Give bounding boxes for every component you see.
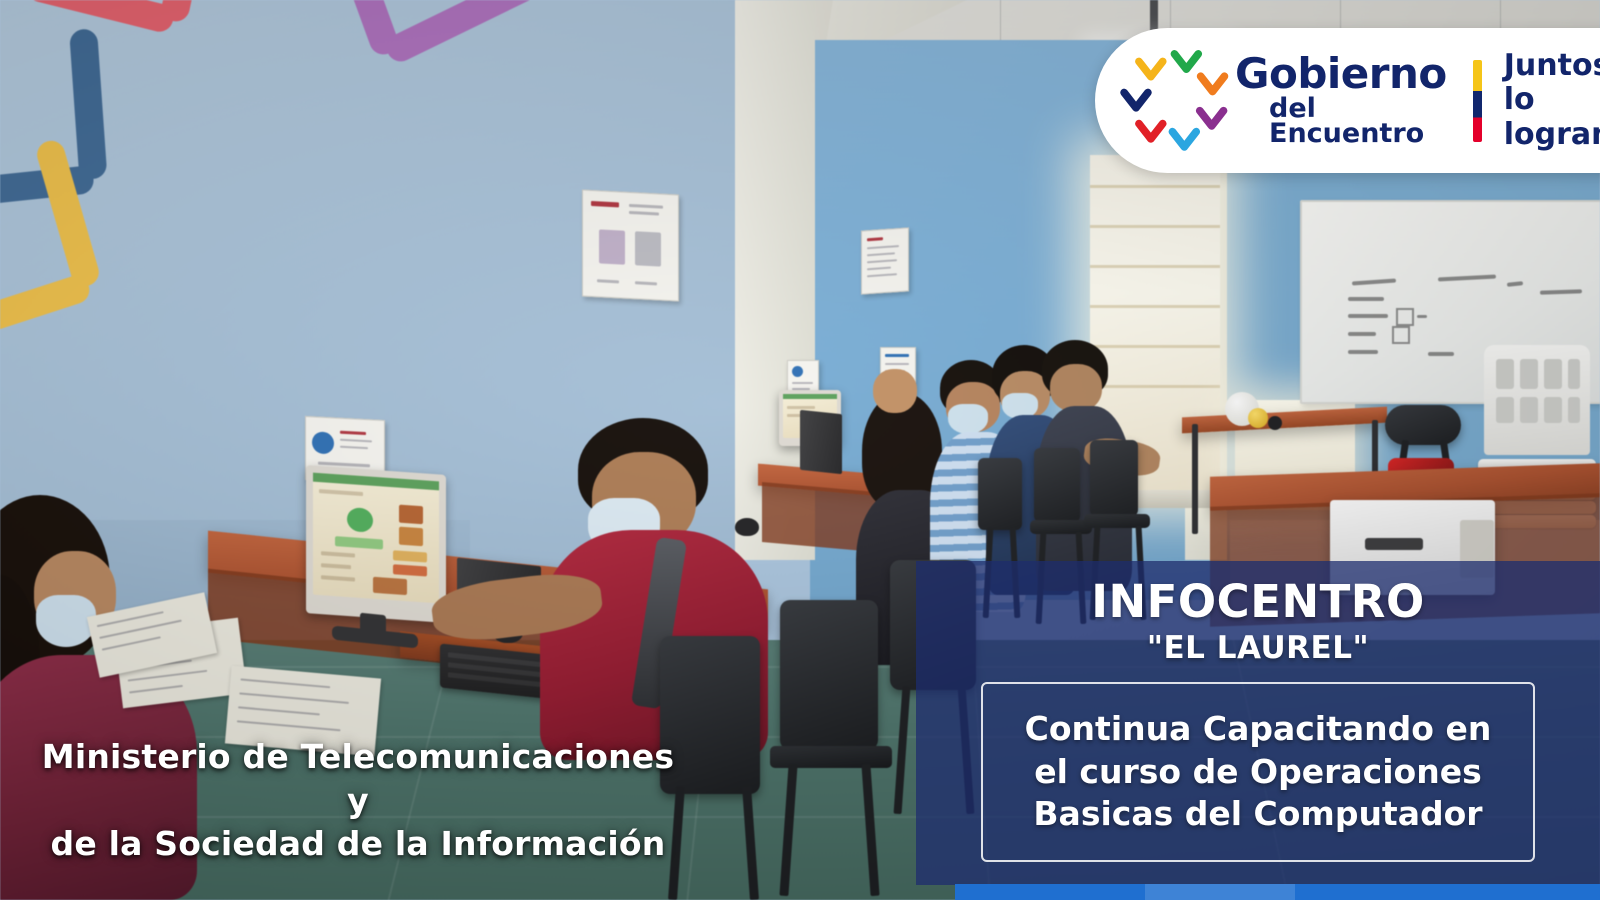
ecuador-flag-divider [1473, 60, 1482, 142]
panel-subtitle: "EL LAUREL" [916, 633, 1600, 664]
gobierno-sun-icon [1121, 46, 1231, 156]
panel-message-line-3: Basicas del Computador [1033, 794, 1482, 833]
mural-chevron-red [105, 0, 184, 14]
monitor-main-screen [313, 473, 439, 604]
face-mask [948, 404, 988, 434]
ministry-line-2: de la Sociedad de la Información [28, 822, 688, 866]
ray-navy-icon [1119, 84, 1153, 118]
ray-red-icon [1134, 115, 1168, 149]
monitor-main [306, 465, 446, 623]
gobierno-wordmark: Gobierno del Encuentro [1235, 54, 1447, 147]
panel-message-box: Continua Capacitando en el curso de Oper… [981, 682, 1535, 862]
chair-back-1 [978, 458, 1022, 530]
logo-tagline: Juntos lo logramos [1504, 49, 1600, 152]
ministry-caption: Ministerio de Telecomunicaciones y de la… [28, 735, 688, 866]
wall-poster-instructions [582, 189, 679, 301]
wall-poster-small [861, 227, 909, 294]
bottom-accent-bar-highlight [1145, 884, 1295, 900]
panel-message: Continua Capacitando en el curso de Oper… [1025, 708, 1492, 837]
panel-title: INFOCENTRO [916, 579, 1600, 624]
plastic-chair-back [1484, 345, 1590, 455]
panel-message-line-2: el curso de Operaciones [1034, 752, 1481, 791]
ministry-line-1: Ministerio de Telecomunicaciones y [28, 735, 688, 822]
chair-foreground-2 [780, 600, 878, 750]
chair-back-3 [1090, 440, 1138, 516]
student-hand-raised [873, 355, 927, 415]
ball-yellow [1248, 408, 1268, 428]
ray-purple-icon [1195, 102, 1229, 136]
printer-slot [1365, 538, 1423, 550]
tagline-line-1: Juntos [1504, 49, 1600, 83]
infocentro-panel: INFOCENTRO "EL LAUREL" Continua Capacita… [916, 561, 1600, 885]
chair-back-2 [1034, 448, 1080, 522]
ray-yellow-icon [1134, 52, 1168, 86]
pc-tower-back [800, 410, 842, 474]
panel-message-line-1: Continua Capacitando en [1025, 709, 1492, 748]
logo-line-gobierno: Gobierno [1235, 54, 1447, 94]
screenshot-root: Gobierno del Encuentro Juntos lo logramo… [0, 0, 1600, 900]
ball-black [1268, 416, 1282, 430]
gobierno-logo-badge: Gobierno del Encuentro Juntos lo logramo… [1095, 28, 1600, 173]
stool-seat [1385, 405, 1461, 445]
ray-green-icon [1169, 45, 1203, 79]
tagline-line-2: lo logramos [1504, 83, 1600, 151]
logo-line-encuentro: del Encuentro [1269, 96, 1447, 147]
